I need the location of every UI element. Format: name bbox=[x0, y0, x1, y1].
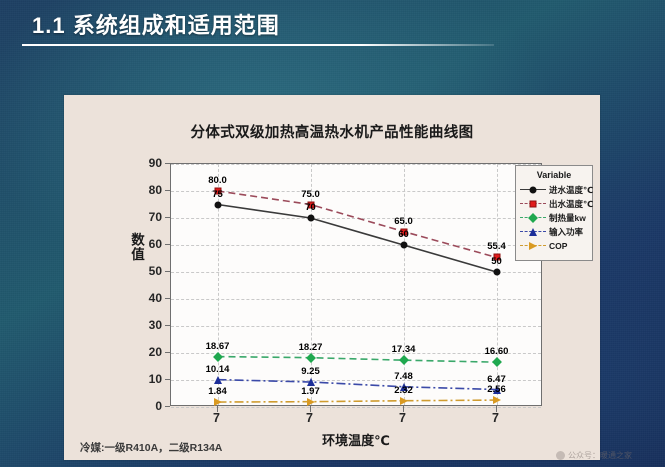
y-tick-mark bbox=[165, 271, 170, 272]
data-point-label: 2.32 bbox=[394, 385, 413, 396]
legend-title: Variable bbox=[520, 170, 588, 180]
data-point-marker bbox=[493, 396, 501, 404]
x-tick-label: 7 bbox=[391, 411, 415, 425]
legend-marker-icon bbox=[530, 187, 537, 194]
data-point-marker bbox=[214, 376, 222, 384]
data-point-marker bbox=[307, 398, 315, 406]
data-point-label: 17.34 bbox=[392, 344, 416, 355]
y-tick-label: 40 bbox=[136, 291, 162, 305]
y-tick-mark bbox=[165, 163, 170, 164]
series-line bbox=[218, 205, 497, 273]
data-point-marker bbox=[493, 269, 500, 276]
legend-item[interactable]: 出水温度℃ bbox=[520, 197, 588, 211]
data-point-marker bbox=[400, 397, 408, 405]
chart-title: 分体式双级加热高温热水机产品性能曲线图 bbox=[64, 121, 600, 142]
y-tick-label: 70 bbox=[136, 210, 162, 224]
chart-legend: Variable 进水温度℃出水温度℃制热量kw输入功率COP bbox=[515, 165, 593, 261]
x-tick-mark bbox=[403, 406, 404, 412]
legend-marker-icon bbox=[529, 228, 537, 236]
data-point-label: 2.56 bbox=[487, 384, 506, 395]
x-axis-title: 环境温度℃ bbox=[170, 430, 542, 449]
plot-area: 7570605080.075.065.055.418.6718.2717.341… bbox=[170, 163, 542, 406]
y-tick-mark bbox=[165, 379, 170, 380]
y-tick-label: 50 bbox=[136, 264, 162, 278]
legend-swatch bbox=[520, 198, 546, 210]
legend-swatch bbox=[520, 240, 546, 252]
x-tick-label: 7 bbox=[484, 411, 508, 425]
gridline-horizontal bbox=[171, 407, 541, 408]
data-point-label: 50 bbox=[491, 256, 502, 267]
series-line bbox=[218, 357, 497, 363]
series-line bbox=[218, 400, 497, 402]
y-tick-label: 30 bbox=[136, 318, 162, 332]
legend-item[interactable]: 输入功率 bbox=[520, 225, 588, 239]
y-tick-mark bbox=[165, 190, 170, 191]
x-tick-label: 7 bbox=[298, 411, 322, 425]
data-point-marker bbox=[214, 201, 221, 208]
data-point-marker bbox=[400, 242, 407, 249]
series-line bbox=[218, 191, 497, 257]
legend-swatch bbox=[520, 184, 546, 196]
x-tick-mark bbox=[217, 406, 218, 412]
data-point-label: 60 bbox=[398, 229, 409, 240]
data-point-label: 80.0 bbox=[208, 175, 227, 186]
legend-item[interactable]: 制热量kw bbox=[520, 211, 588, 225]
legend-label: 出水温度℃ bbox=[549, 198, 593, 210]
legend-marker-icon bbox=[528, 213, 538, 223]
chart-card: 分体式双级加热高温热水机产品性能曲线图 数值 环境温度℃ 7570605080.… bbox=[64, 95, 600, 460]
header-underline bbox=[22, 44, 494, 46]
legend-item[interactable]: COP bbox=[520, 239, 588, 253]
data-point-label: 6.47 bbox=[487, 374, 506, 385]
data-point-label: 9.25 bbox=[301, 366, 320, 377]
y-tick-mark bbox=[165, 352, 170, 353]
legend-marker-icon bbox=[529, 242, 537, 250]
y-tick-mark bbox=[165, 244, 170, 245]
data-point-label: 18.67 bbox=[206, 341, 230, 352]
data-point-label: 70 bbox=[305, 202, 316, 213]
legend-label: COP bbox=[549, 241, 567, 251]
data-point-label: 16.60 bbox=[485, 346, 509, 357]
legend-item[interactable]: 进水温度℃ bbox=[520, 183, 588, 197]
legend-label: 输入功率 bbox=[549, 226, 583, 238]
legend-label: 进水温度℃ bbox=[549, 184, 593, 196]
legend-swatch bbox=[520, 212, 546, 224]
y-tick-label: 20 bbox=[136, 345, 162, 359]
data-point-label: 65.0 bbox=[394, 216, 413, 227]
y-tick-label: 90 bbox=[136, 156, 162, 170]
legend-marker-icon bbox=[530, 201, 537, 208]
y-tick-label: 60 bbox=[136, 237, 162, 251]
slide-header: 1.1 系统组成和适用范围 bbox=[0, 0, 665, 47]
chart-footnote: 冷媒:一级R410A，二级R134A bbox=[80, 440, 222, 455]
x-tick-mark bbox=[496, 406, 497, 412]
y-tick-mark bbox=[165, 217, 170, 218]
x-tick-mark bbox=[310, 406, 311, 412]
data-point-label: 10.14 bbox=[206, 364, 230, 375]
data-point-marker bbox=[214, 398, 222, 406]
legend-label: 制热量kw bbox=[549, 212, 586, 224]
data-point-label: 7.48 bbox=[394, 371, 413, 382]
x-tick-label: 7 bbox=[205, 411, 229, 425]
y-tick-label: 80 bbox=[136, 183, 162, 197]
y-tick-label: 0 bbox=[136, 399, 162, 413]
y-tick-mark bbox=[165, 406, 170, 407]
data-point-label: 18.27 bbox=[299, 342, 323, 353]
legend-swatch bbox=[520, 226, 546, 238]
data-point-label: 75.0 bbox=[301, 189, 320, 200]
series-line bbox=[218, 380, 497, 390]
data-point-label: 1.97 bbox=[301, 386, 320, 397]
y-tick-label: 10 bbox=[136, 372, 162, 386]
y-tick-mark bbox=[165, 325, 170, 326]
y-tick-mark bbox=[165, 298, 170, 299]
data-point-marker bbox=[307, 215, 314, 222]
data-point-label: 75 bbox=[212, 189, 223, 200]
page-title: 1.1 系统组成和适用范围 bbox=[32, 8, 280, 40]
data-point-label: 55.4 bbox=[487, 241, 506, 252]
data-point-label: 1.84 bbox=[208, 386, 227, 397]
